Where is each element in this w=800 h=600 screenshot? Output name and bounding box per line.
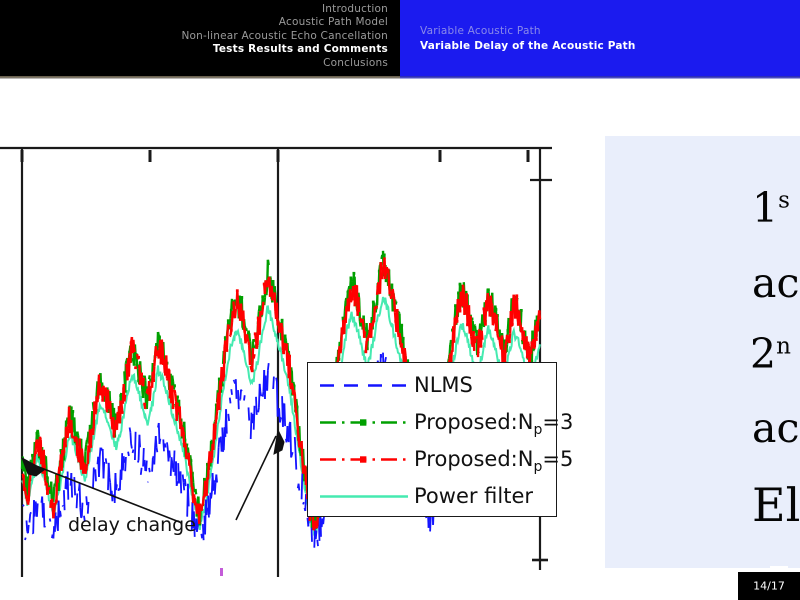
nav-item-nonlinear-echo-cancellation[interactable]: Non-linear Acoustic Echo Cancellation: [182, 30, 389, 43]
legend-label-power-filter: Power filter: [414, 478, 533, 515]
arrow-head-right: [274, 430, 284, 454]
legend-label-proposed-np3: Proposed:Np=3: [414, 404, 573, 441]
header-subsection-panel: Variable Acoustic Path Variable Delay of…: [400, 0, 800, 76]
nav-item-acoustic-path-model[interactable]: Acoustic Path Model: [182, 16, 389, 29]
slide-header: Introduction Acoustic Path Model Non-lin…: [0, 0, 800, 79]
legend-row-proposed-np3[interactable]: Proposed:Np=3: [308, 404, 556, 441]
subsection-nav: Variable Acoustic Path Variable Delay of…: [420, 24, 636, 54]
content-line-5: El: [752, 478, 800, 532]
legend-row-nlms[interactable]: NLMS: [308, 367, 556, 404]
legend-row-power-filter[interactable]: Power filter: [308, 478, 556, 515]
legend-label-proposed-np5: Proposed:Np=5: [414, 441, 573, 478]
arrow-line-right: [236, 436, 276, 520]
legend-row-proposed-np5[interactable]: Proposed:Np=5: [308, 441, 556, 478]
subsection-item-variable-acoustic-path[interactable]: Variable Acoustic Path: [420, 24, 636, 39]
content-line-3: 2n: [750, 330, 791, 378]
stray-magenta-mark: [220, 568, 223, 576]
legend-sample-nlms: [318, 367, 410, 404]
legend-label-nlms: NLMS: [414, 367, 473, 404]
content-line-2: ac: [752, 259, 799, 307]
legend-sample-power-filter: [318, 478, 410, 515]
content-line-1: 1s: [752, 184, 790, 232]
outline-nav: Introduction Acoustic Path Model Non-lin…: [182, 3, 389, 70]
legend-sample-proposed-np3: [318, 404, 410, 441]
annotation-delay-change: delay change: [68, 514, 196, 536]
annotation-arrows: [22, 430, 284, 523]
page-number-text: 14/17: [753, 580, 785, 593]
content-line-4: ac: [752, 404, 799, 452]
nav-item-tests-results-and-comments[interactable]: Tests Results and Comments: [182, 43, 389, 56]
header-divider-right: [400, 76, 800, 79]
subsection-item-variable-delay-of-the-acoustic-path[interactable]: Variable Delay of the Acoustic Path: [420, 39, 636, 54]
chart-legend[interactable]: NLMS Proposed:Np=3 Proposed:Np=5 Power f…: [307, 362, 557, 517]
legend-sample-proposed-np5: [318, 441, 410, 478]
nav-item-introduction[interactable]: Introduction: [182, 3, 389, 16]
page-number-badge: 14/17: [738, 572, 800, 600]
header-outline-panel: Introduction Acoustic Path Model Non-lin…: [0, 0, 400, 76]
nav-item-conclusions[interactable]: Conclusions: [182, 57, 389, 70]
